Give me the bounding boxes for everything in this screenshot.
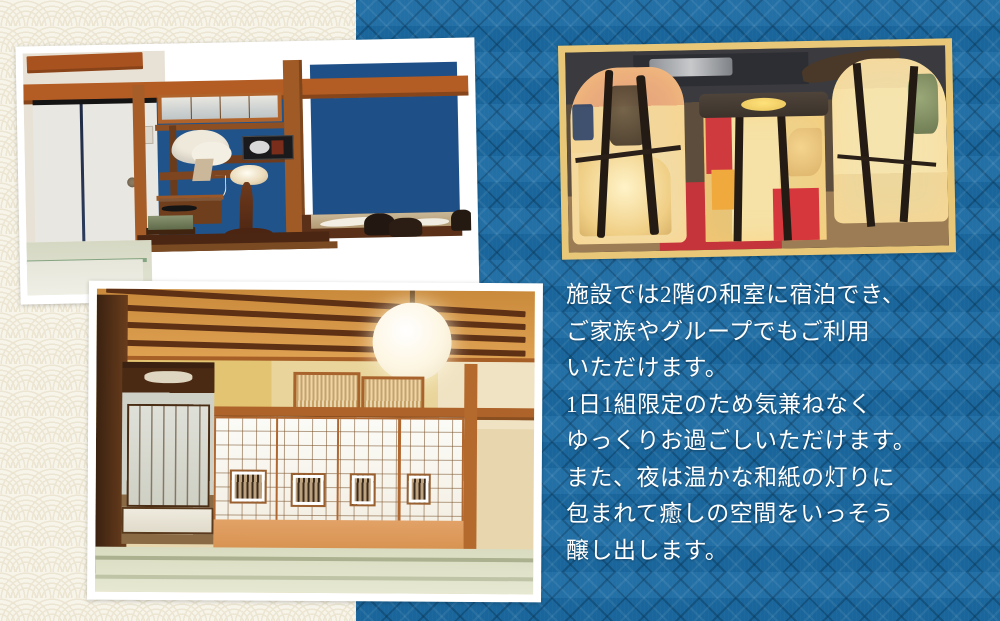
shoji-peep-window <box>352 475 374 504</box>
washi-lantern-center-orange-panel <box>712 169 736 209</box>
shelf-post <box>169 125 178 195</box>
alcove-base-cabinet <box>122 507 214 535</box>
corner-post-right <box>463 364 477 570</box>
shoji-peep-window <box>409 475 429 502</box>
shoji-peep-window <box>293 475 324 505</box>
photo-room-tatami-image <box>95 289 535 595</box>
shoji-peep-window <box>231 471 264 501</box>
washi-lantern-left-blue-panel <box>572 104 594 140</box>
description-text: 施設では2階の和室に宿泊でき、 ご家族やグループでもご利用 いただけます。 1日… <box>566 277 966 569</box>
photo-room-tokonoma <box>15 37 479 304</box>
tatami-floor <box>95 546 533 594</box>
washi-lantern-center-red-panel <box>773 188 820 241</box>
promo-banner: 施設では2階の和室に宿泊でき、 ご家族やグループでもご利用 いただけます。 1日… <box>0 0 1000 621</box>
photo-room-tokonoma-image <box>23 45 473 296</box>
photo-washi-lanterns <box>558 38 956 260</box>
photo-room-tatami <box>87 281 543 603</box>
small-vase <box>271 140 283 155</box>
komainu-statue-right <box>389 217 423 237</box>
photo-washi-lanterns-image <box>565 45 949 252</box>
decorative-stone <box>148 215 193 230</box>
ranma-transom-left <box>293 372 361 412</box>
paper-lantern <box>372 302 451 381</box>
alcove-reflection <box>145 371 193 383</box>
washi-lantern-center-leaf-panel <box>787 128 822 177</box>
washi-lantern-center-red-panel <box>705 113 733 173</box>
komainu-statue-far-right <box>451 209 473 231</box>
alcove-shoji-screen <box>126 404 210 508</box>
